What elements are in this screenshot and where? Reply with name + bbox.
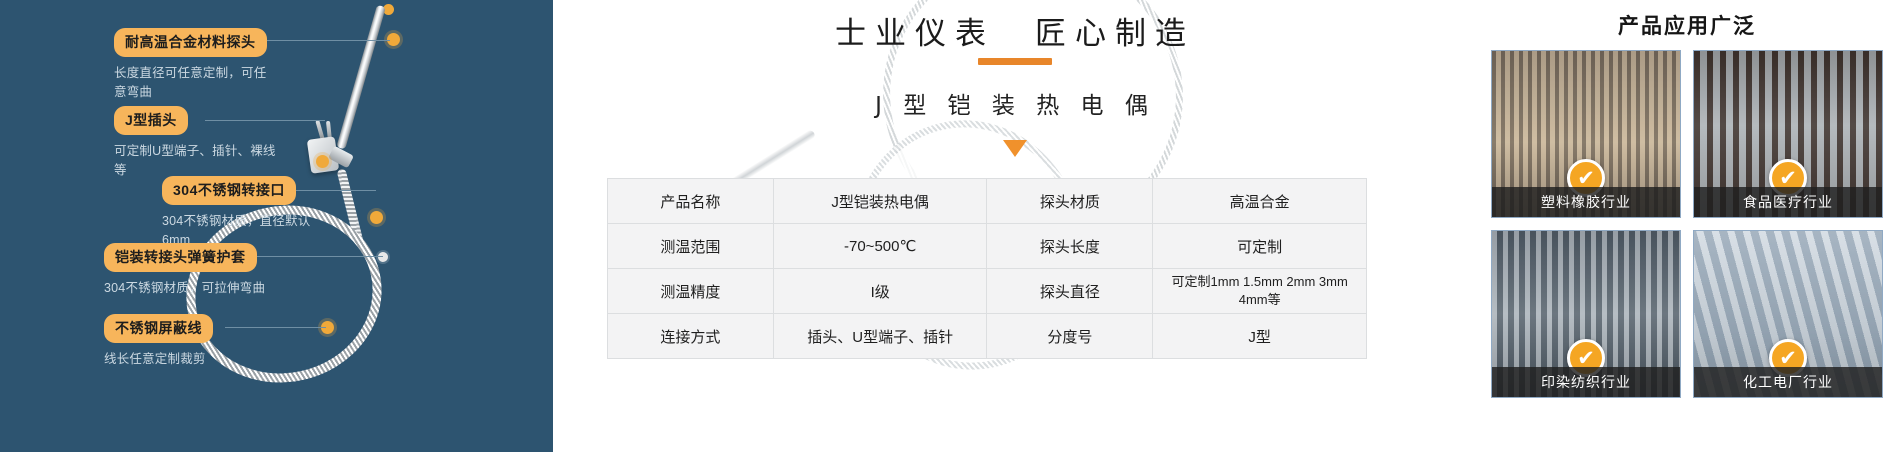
spec-key: 连接方式	[608, 314, 774, 359]
callout-title: 耐高温合金材料探头	[114, 28, 267, 57]
spec-key: 探头材质	[987, 179, 1153, 224]
spec-value: J型	[1153, 314, 1367, 359]
spec-key: 测温范围	[608, 224, 774, 269]
callout-title: 铠装转接头弹簧护套	[104, 243, 257, 272]
application-card-grid: ✔ 塑料橡胶行业 ✔ 食品医疗行业 ✔ 印染纺织行业 ✔ 化工电厂行业	[1491, 50, 1883, 398]
applications-title: 产品应用广泛	[1491, 10, 1883, 40]
callout-description: 304不锈钢材质，可拉伸弯曲	[104, 279, 265, 298]
spec-value: 插头、U型端子、插针	[773, 314, 987, 359]
leader-line-4	[255, 256, 383, 257]
left-feature-panel: 耐高温合金材料探头 长度直径可任意定制，可任意弯曲 J型插头 可定制U型端子、插…	[0, 0, 553, 452]
application-card[interactable]: ✔ 塑料橡胶行业	[1491, 50, 1681, 218]
application-label: 塑料橡胶行业	[1492, 187, 1680, 217]
spec-value: I级	[773, 269, 987, 314]
callout-j-plug: J型插头 可定制U型端子、插针、裸线等	[114, 106, 279, 180]
spec-value: J型铠装热电偶	[773, 179, 987, 224]
spec-key: 测温精度	[608, 269, 774, 314]
application-card[interactable]: ✔ 化工电厂行业	[1693, 230, 1883, 398]
spec-key: 分度号	[987, 314, 1153, 359]
hotspot-dot-adapter	[370, 211, 383, 224]
spec-value: 可定制1mm 1.5mm 2mm 3mm 4mm等	[1153, 269, 1367, 314]
spec-value: 可定制	[1153, 224, 1367, 269]
leader-line-1	[262, 40, 390, 41]
application-card[interactable]: ✔ 食品医疗行业	[1693, 50, 1883, 218]
application-label: 食品医疗行业	[1694, 187, 1882, 217]
right-applications-panel: 产品应用广泛 ✔ 塑料橡胶行业 ✔ 食品医疗行业 ✔ 印染纺织行业 ✔ 化工电厂…	[1477, 0, 1897, 452]
caret-down-icon	[1003, 140, 1027, 157]
hotspot-dot-plug	[316, 155, 329, 168]
specification-table: 产品名称 J型铠装热电偶 探头材质 高温合金 测温范围 -70~500℃ 探头长…	[607, 178, 1367, 359]
hotspot-dot-spring	[378, 252, 388, 262]
probe-stem-graphic	[336, 5, 385, 150]
callout-description: 线长任意定制裁剪	[104, 350, 213, 369]
table-row: 产品名称 J型铠装热电偶 探头材质 高温合金	[608, 179, 1367, 224]
table-row: 测温范围 -70~500℃ 探头长度 可定制	[608, 224, 1367, 269]
spec-value: 高温合金	[1153, 179, 1367, 224]
table-row: 连接方式 插头、U型端子、插针 分度号 J型	[608, 314, 1367, 359]
callout-spring-sheath: 铠装转接头弹簧护套 304不锈钢材质，可拉伸弯曲	[104, 243, 265, 298]
spec-key: 探头长度	[987, 224, 1153, 269]
page-subtitle: J 型 铠 装 热 电 偶	[553, 86, 1477, 120]
application-card[interactable]: ✔ 印染纺织行业	[1491, 230, 1681, 398]
callout-title: 304不锈钢转接口	[162, 176, 296, 205]
callout-304-adapter: 304不锈钢转接口 304不锈钢材质，直径默认6mm	[162, 176, 327, 250]
product-marketing-banner: 耐高温合金材料探头 长度直径可任意定制，可任意弯曲 J型插头 可定制U型端子、插…	[0, 0, 1897, 452]
callout-shield-wire: 不锈钢屏蔽线 线长任意定制裁剪	[104, 314, 213, 369]
callout-description: 长度直径可任意定制，可任意弯曲	[114, 64, 279, 102]
leader-line-5	[225, 327, 326, 328]
spec-key: 产品名称	[608, 179, 774, 224]
page-title: 士业仪表 匠心制造	[553, 8, 1477, 53]
callout-title: J型插头	[114, 106, 188, 135]
application-label: 印染纺织行业	[1492, 367, 1680, 397]
callout-title: 不锈钢屏蔽线	[104, 314, 213, 343]
callout-description: 可定制U型端子、插针、裸线等	[114, 142, 279, 180]
callout-probe-material: 耐高温合金材料探头 长度直径可任意定制，可任意弯曲	[114, 28, 279, 102]
title-underline	[978, 58, 1052, 65]
table-row: 测温精度 I级 探头直径 可定制1mm 1.5mm 2mm 3mm 4mm等	[608, 269, 1367, 314]
spec-key: 探头直径	[987, 269, 1153, 314]
center-spec-panel: 士业仪表 匠心制造 J 型 铠 装 热 电 偶 产品名称 J型铠装热电偶 探头材…	[553, 0, 1477, 452]
application-label: 化工电厂行业	[1694, 367, 1882, 397]
spec-value: -70~500℃	[773, 224, 987, 269]
